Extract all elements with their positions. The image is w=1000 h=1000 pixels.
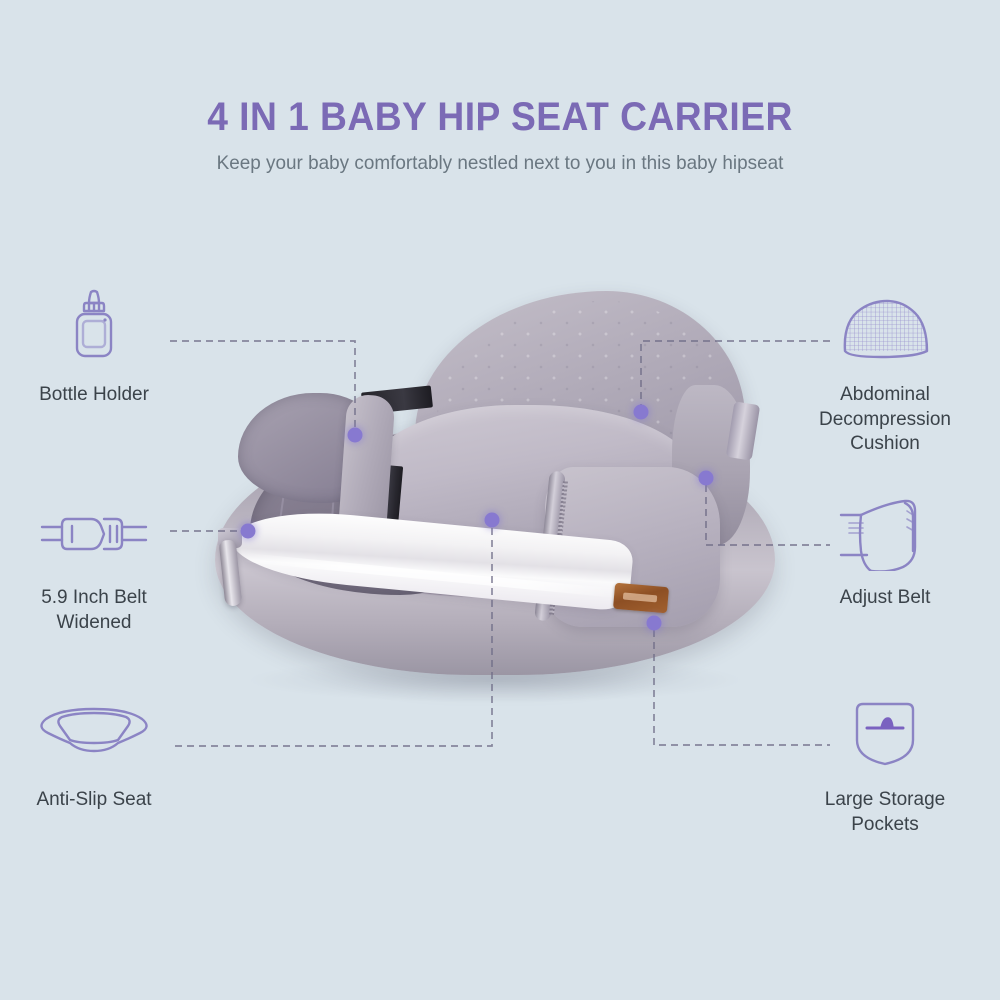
marker-dot-storage-pockets[interactable] (647, 616, 662, 631)
callout-abdominal-cushion[interactable]: Abdominal Decompression Cushion (785, 285, 985, 457)
belt-buckle-icon (0, 488, 194, 580)
callout-label: Abdominal Decompression Cushion (785, 383, 985, 457)
callout-adjust-belt[interactable]: Adjust Belt (785, 488, 985, 611)
callout-label: Bottle Holder (0, 383, 194, 408)
callout-belt-widened[interactable]: 5.9 Inch Belt Widened (0, 488, 194, 635)
marker-dot-anti-slip-seat[interactable] (485, 513, 500, 528)
marker-dot-belt-widened[interactable] (241, 524, 256, 539)
product-image (190, 285, 810, 705)
callout-label: Anti-Slip Seat (0, 788, 194, 813)
callout-anti-slip-seat[interactable]: Anti-Slip Seat (0, 690, 194, 813)
header: 4 IN 1 BABY HIP SEAT CARRIER Keep your b… (0, 96, 1000, 175)
callout-bottle-holder[interactable]: Bottle Holder (0, 285, 194, 408)
brand-logo-patch (613, 583, 669, 614)
marker-dot-abdominal-cushion[interactable] (634, 405, 649, 420)
infographic-page: 4 IN 1 BABY HIP SEAT CARRIER Keep your b… (0, 0, 1000, 1000)
anti-slip-seat-icon (0, 690, 194, 782)
callout-label: 5.9 Inch Belt Widened (0, 586, 194, 635)
marker-dot-adjust-belt[interactable] (699, 471, 714, 486)
cushion-mesh-icon (785, 285, 985, 377)
marker-dot-bottle-holder[interactable] (348, 428, 363, 443)
callout-label: Adjust Belt (785, 586, 985, 611)
callout-label: Large Storage Pockets (785, 788, 985, 837)
page-title: 4 IN 1 BABY HIP SEAT CARRIER (35, 96, 965, 138)
baby-bottle-icon (0, 285, 194, 377)
storage-pocket-icon (785, 690, 985, 782)
adjust-belt-icon (785, 488, 985, 580)
callout-storage-pockets[interactable]: Large Storage Pockets (785, 690, 985, 837)
page-subtitle: Keep your baby comfortably nestled next … (15, 152, 985, 175)
